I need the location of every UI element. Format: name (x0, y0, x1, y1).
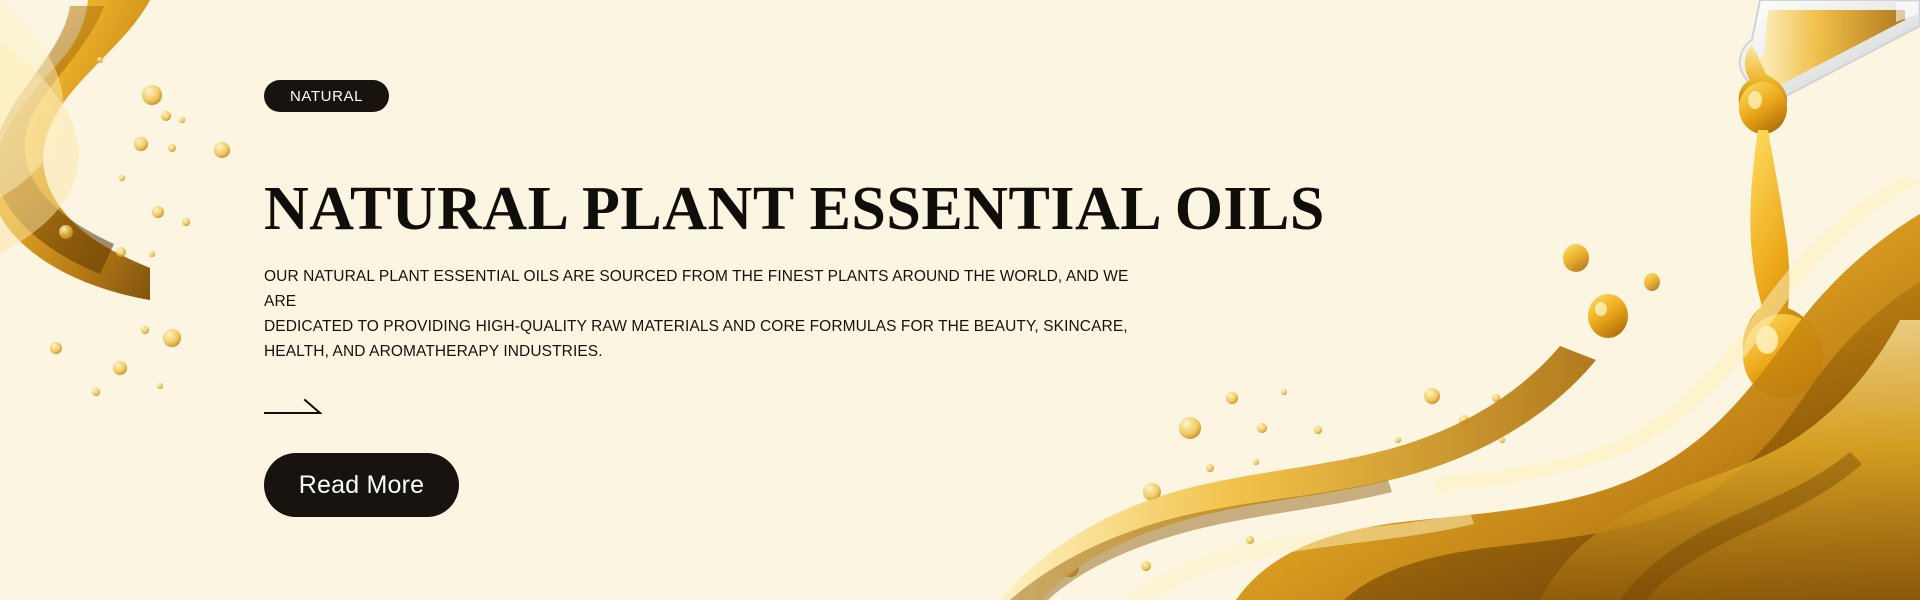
read-more-button[interactable]: Read More (264, 453, 459, 517)
left-oil-wave-group (0, 0, 150, 300)
description-line-2: DEDICATED TO PROVIDING HIGH-QUALITY RAW … (264, 314, 1154, 339)
description-line-1: OUR NATURAL PLANT ESSENTIAL OILS ARE SOU… (264, 264, 1154, 314)
category-badge: NATURAL (264, 80, 389, 112)
left-bubbles-group (50, 57, 230, 396)
hero-content: NATURAL NATURAL PLANT ESSENTIAL OILS OUR… (264, 0, 1264, 600)
arrow-right-glyph (264, 398, 322, 420)
hero-banner: NATURAL NATURAL PLANT ESSENTIAL OILS OUR… (0, 0, 1920, 600)
page-title: NATURAL PLANT ESSENTIAL OILS (264, 178, 1325, 240)
description-line-3: HEALTH, AND AROMATHERAPY INDUSTRIES. (264, 339, 1154, 364)
glass-dropper-icon (1739, 0, 1920, 134)
hero-description: OUR NATURAL PLANT ESSENTIAL OILS ARE SOU… (264, 264, 1154, 364)
arrow-right-icon[interactable] (264, 398, 322, 420)
oil-droplet-group (1563, 130, 1823, 398)
